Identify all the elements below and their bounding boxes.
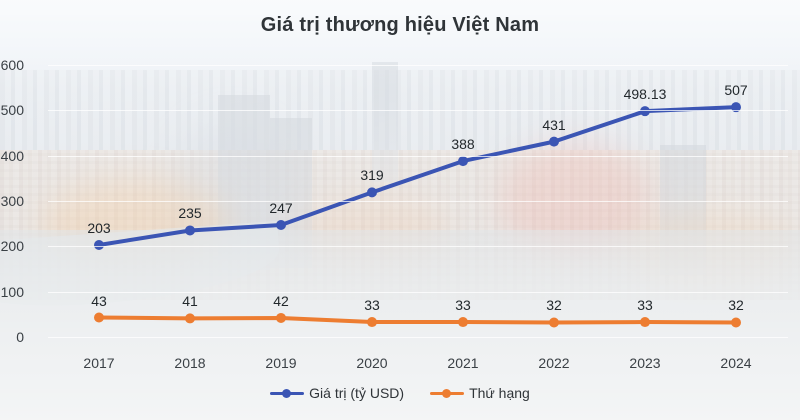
x-axis-tick-label: 2019 [246, 355, 316, 371]
y-axis-tick-label: 300 [0, 193, 24, 209]
data-point-marker[interactable] [640, 317, 650, 327]
data-point-marker[interactable] [276, 313, 286, 323]
legend-marker-icon [270, 387, 304, 399]
y-axis-tick-label: 100 [0, 284, 24, 300]
data-point-marker[interactable] [458, 156, 468, 166]
data-point-marker[interactable] [549, 137, 559, 147]
x-axis-tick-label: 2018 [155, 355, 225, 371]
series-line [99, 107, 736, 245]
data-point-label: 33 [605, 297, 685, 313]
legend-item[interactable]: Thứ hạng [430, 385, 530, 401]
y-axis-tick-label: 400 [0, 148, 24, 164]
data-point-label: 43 [59, 293, 139, 309]
data-point-label: 41 [150, 293, 230, 309]
gridline [48, 246, 788, 247]
data-point-marker[interactable] [458, 317, 468, 327]
legend-label: Giá trị (tỷ USD) [309, 385, 404, 401]
y-axis-tick-label: 0 [0, 329, 24, 345]
data-point-marker[interactable] [367, 317, 377, 327]
data-point-label: 203 [59, 220, 139, 236]
brand-value-chart: Giá trị thương hiệu Việt Nam 01002003004… [0, 0, 800, 420]
gridline [48, 337, 788, 338]
x-axis-tick-label: 2020 [337, 355, 407, 371]
legend-label: Thứ hạng [469, 385, 530, 401]
chart-legend: Giá trị (tỷ USD)Thứ hạng [0, 385, 800, 401]
data-point-label: 498.13 [605, 86, 685, 102]
data-point-marker[interactable] [94, 240, 104, 250]
data-point-label: 33 [332, 297, 412, 313]
x-axis-tick-label: 2022 [519, 355, 589, 371]
data-point-label: 32 [696, 297, 776, 313]
chart-content: Giá trị thương hiệu Việt Nam 01002003004… [0, 0, 800, 420]
data-point-label: 431 [514, 117, 594, 133]
data-point-marker[interactable] [731, 317, 741, 327]
data-point-label: 507 [696, 82, 776, 98]
data-point-marker[interactable] [185, 313, 195, 323]
gridline [48, 65, 788, 66]
data-point-label: 388 [423, 136, 503, 152]
y-axis-tick-label: 200 [0, 238, 24, 254]
data-point-marker[interactable] [94, 313, 104, 323]
y-axis-tick-label: 600 [0, 57, 24, 73]
y-axis-tick-label: 500 [0, 102, 24, 118]
data-point-label: 33 [423, 297, 503, 313]
x-axis-tick-label: 2021 [428, 355, 498, 371]
data-point-label: 42 [241, 293, 321, 309]
x-axis-tick-label: 2024 [701, 355, 771, 371]
gridline [48, 156, 788, 157]
gridline [48, 110, 788, 111]
x-axis-tick-label: 2017 [64, 355, 134, 371]
chart-title: Giá trị thương hiệu Việt Nam [0, 14, 800, 37]
legend-item[interactable]: Giá trị (tỷ USD) [270, 385, 404, 401]
data-point-label: 247 [241, 200, 321, 216]
data-point-marker[interactable] [185, 225, 195, 235]
data-point-marker[interactable] [276, 220, 286, 230]
legend-marker-icon [430, 387, 464, 399]
x-axis-tick-label: 2023 [610, 355, 680, 371]
gridline [48, 201, 788, 202]
data-point-label: 235 [150, 205, 230, 221]
data-point-label: 32 [514, 297, 594, 313]
plot-area: 0100200300400500600201720182019202020212… [48, 65, 788, 337]
data-point-marker[interactable] [549, 317, 559, 327]
data-point-marker[interactable] [367, 187, 377, 197]
data-point-label: 319 [332, 167, 412, 183]
